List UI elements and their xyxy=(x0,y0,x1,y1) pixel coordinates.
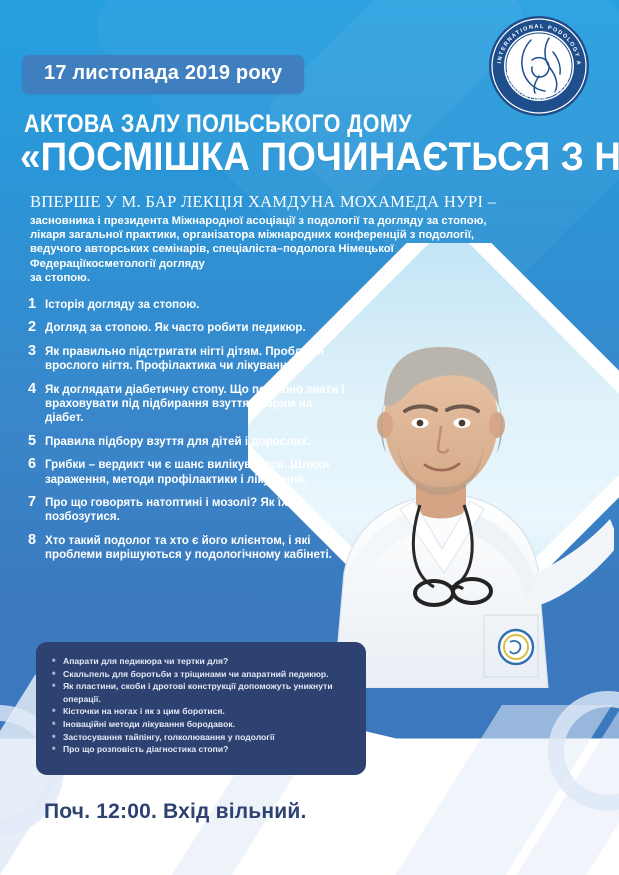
question-bullet: Іноваційні методи лікування бородавок. xyxy=(52,718,350,731)
topic-number: 8 xyxy=(28,533,36,547)
lecturer-description: засновника і президента Міжнародної асоц… xyxy=(30,214,500,285)
question-bullet: Як пластини, скоби і дротові конструкції… xyxy=(52,680,350,705)
question-bullet: Скальпель для боротьби з тріщинами чи ап… xyxy=(52,668,350,681)
topic-item: 2Догляд за стопою. Як часто робити педик… xyxy=(28,321,348,335)
topic-item: 8Хто такий подолог та хто є його клієнто… xyxy=(28,534,348,563)
topic-number: 7 xyxy=(28,495,36,509)
topic-number: 6 xyxy=(28,457,36,471)
topic-item: 1Історія догляду за стопою. xyxy=(28,298,348,312)
topic-text: Як правильно підстригати нігті дітям. Пр… xyxy=(45,345,324,372)
topic-text: Грибки – вердикт чи є шанс вилікуватися.… xyxy=(45,458,330,485)
association-logo-icon: INTERNATIONAL PODOLOGY AND FOOT CARE ASS… xyxy=(487,14,591,118)
topic-text: Про що говорять натоптині і мозолі? Як ї… xyxy=(45,496,288,523)
topic-text: Правила підбору взуття для дітей і дорос… xyxy=(45,435,310,448)
lecturer-description-line: ведучого авторських семінарів, спеціаліс… xyxy=(30,242,500,256)
date-badge: 17 листопада 2019 року xyxy=(22,55,304,94)
topic-text: Хто такий подолог та хто є його клієнтом… xyxy=(45,534,332,561)
lecturer-description-line: лікаря загальної практики, організатора … xyxy=(30,228,500,242)
page-title: «ПОСМІШКА ПОЧИНАЄТЬСЯ З НІГ» xyxy=(20,135,619,180)
topic-item: 6Грибки – вердикт чи є шанс вилікуватися… xyxy=(28,458,348,487)
topic-item: 3Як правильно підстригати нігті дітям. П… xyxy=(28,345,348,374)
topic-number: 1 xyxy=(28,297,36,311)
lecturer-description-line: за стопою. xyxy=(30,271,500,285)
question-bullet: Апарати для педикюра чи тертки для? xyxy=(52,655,350,668)
footer-info: Поч. 12:00. Вхід вільний. xyxy=(44,800,307,824)
question-bullet: Про що розповість діагностика стопи? xyxy=(52,743,350,756)
topic-item: 7Про що говорять натоптині і мозолі? Як … xyxy=(28,496,348,525)
questions-box: Апарати для педикюра чи тертки для?Скаль… xyxy=(36,642,366,775)
lecturer-description-line: Федераціїкосметології догляду xyxy=(30,257,500,271)
topic-text: Як доглядати діабетичну стопу. Що потріб… xyxy=(45,383,345,425)
question-bullet: Кісточки на ногах і як з цим боротися. xyxy=(52,705,350,718)
topic-number: 4 xyxy=(28,382,36,396)
topic-number: 2 xyxy=(28,320,36,334)
topics-list: 1Історія догляду за стопою.2Догляд за ст… xyxy=(28,298,348,572)
poster-canvas: INTERNATIONAL PODOLOGY AND FOOT CARE ASS… xyxy=(0,0,619,875)
topic-text: Догляд за стопою. Як часто робити педикю… xyxy=(45,321,306,334)
topic-item: 5Правила підбору взуття для дітей і доро… xyxy=(28,435,348,449)
question-bullet: Застосування тайпінгу, голколювання у по… xyxy=(52,731,350,744)
topic-text: Історія догляду за стопою. xyxy=(45,298,199,311)
lecturer-description-line: засновника і президента Міжнародної асоц… xyxy=(30,214,500,228)
topic-item: 4Як доглядати діабетичну стопу. Що потрі… xyxy=(28,383,348,426)
lecturer-headline: ВПЕРШЕ У М. БАР ЛЕКЦІЯ ХАМДУНА МОХАМЕДА … xyxy=(30,192,496,212)
topic-number: 5 xyxy=(28,434,36,448)
topic-number: 3 xyxy=(28,344,36,358)
